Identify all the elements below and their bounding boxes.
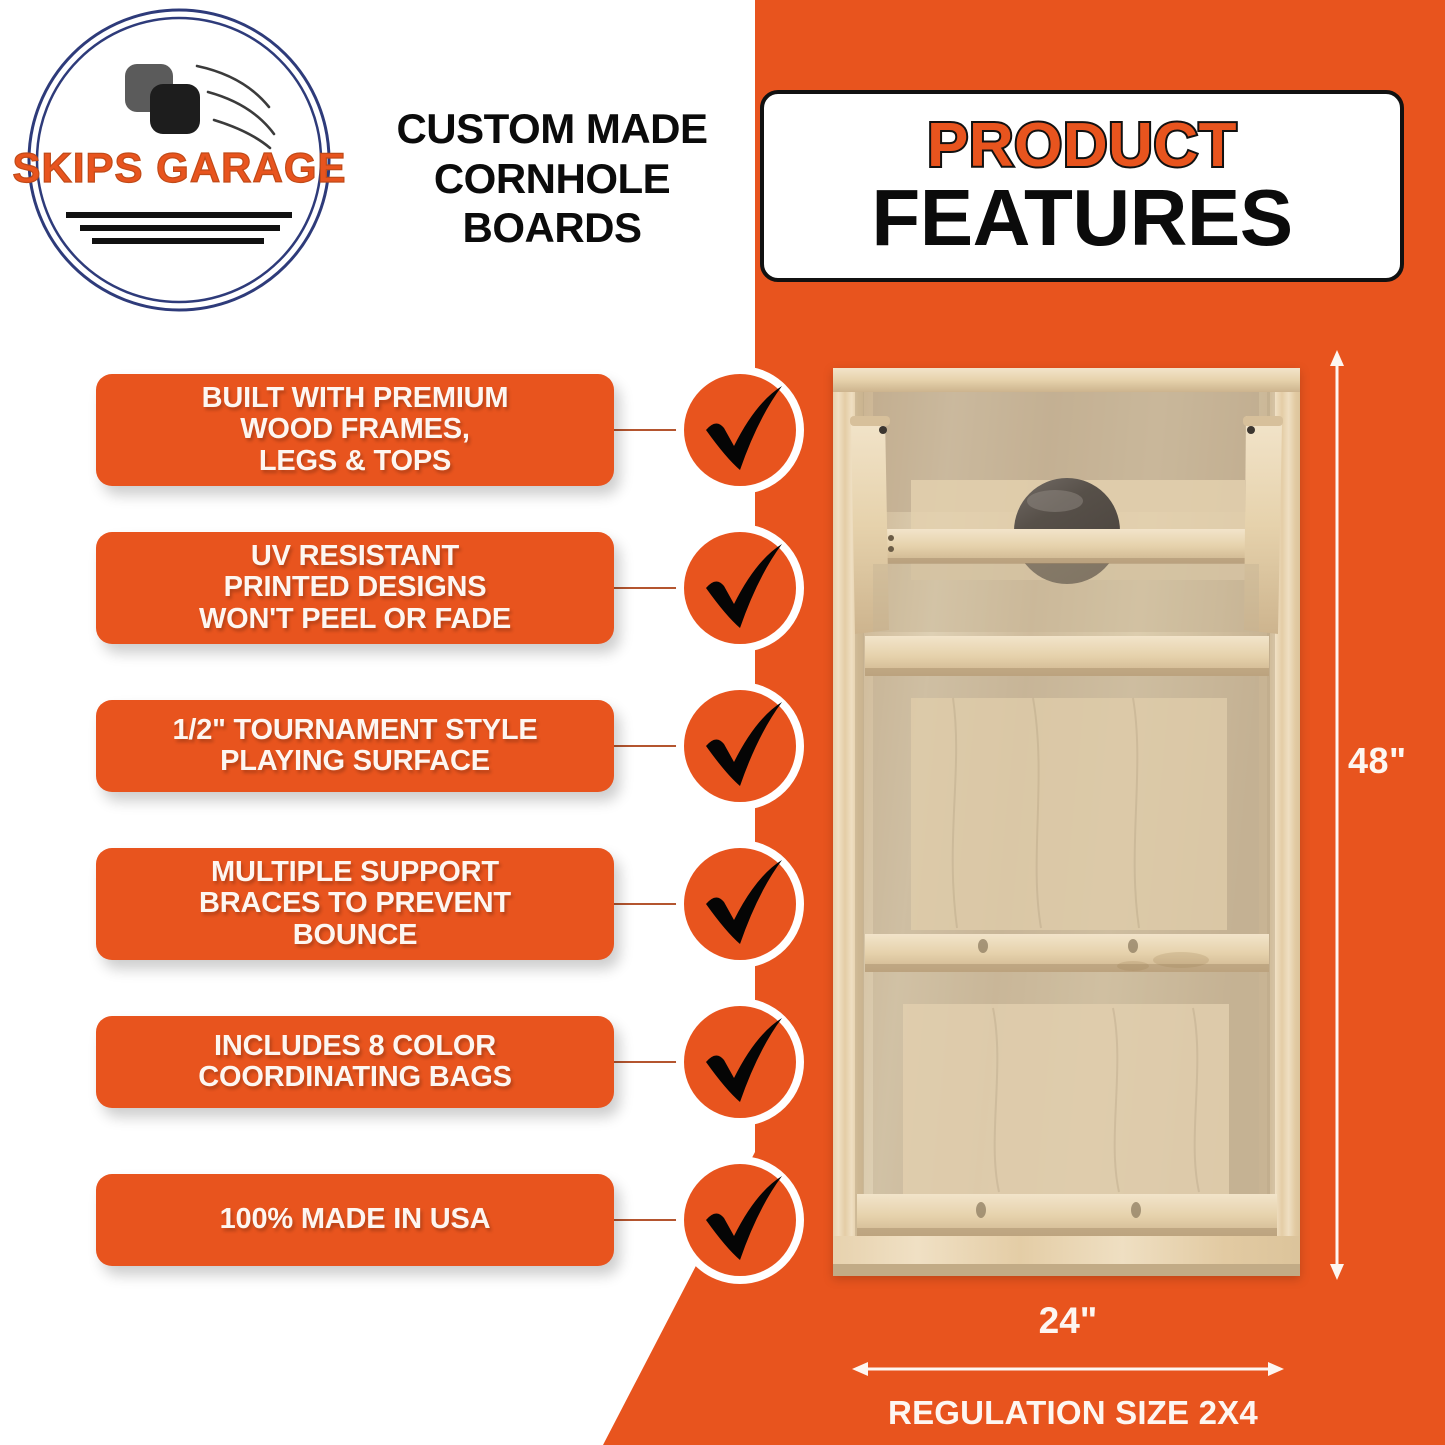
infographic-canvas: SKIPS GARAGE CUSTOM MADE CORNHOLE BOARDS… — [0, 0, 1445, 1445]
height-dimension-label: 48" — [1348, 740, 1407, 782]
check-icon — [676, 682, 804, 810]
feature-item-2[interactable]: UV RESISTANT PRINTED DESIGNS WON'T PEEL … — [0, 518, 830, 658]
banner-line-features: FEATURES — [871, 179, 1292, 257]
logo-wordmark: SKIPS GARAGE — [12, 144, 347, 192]
feature-item-3[interactable]: 1/2" TOURNAMENT STYLE PLAYING SURFACE — [0, 676, 830, 816]
cornhole-board-image — [833, 368, 1300, 1276]
width-dimension-arrow — [852, 1362, 1284, 1376]
feature-label: INCLUDES 8 COLOR COORDINATING BAGS — [198, 1031, 511, 1094]
page-title: CUSTOM MADE CORNHOLE BOARDS — [356, 104, 748, 253]
width-dimension-label: 24" — [852, 1300, 1284, 1342]
product-features-banner: PRODUCT FEATURES — [760, 90, 1404, 282]
check-icon — [676, 366, 804, 494]
board-graphic — [833, 368, 1300, 1276]
feature-item-5[interactable]: INCLUDES 8 COLOR COORDINATING BAGS — [0, 992, 830, 1132]
feature-label: 100% MADE IN USA — [220, 1204, 491, 1235]
feature-pill[interactable]: 100% MADE IN USA — [96, 1174, 614, 1266]
height-dimension-arrow — [1330, 350, 1344, 1280]
feature-label: MULTIPLE SUPPORT BRACES TO PREVENT BOUNC… — [199, 857, 511, 951]
feature-list: BUILT WITH PREMIUM WOOD FRAMES, LEGS & T… — [0, 350, 830, 1350]
feature-pill[interactable]: UV RESISTANT PRINTED DESIGNS WON'T PEEL … — [96, 532, 614, 644]
brand-logo: SKIPS GARAGE — [12, 8, 347, 313]
feature-item-1[interactable]: BUILT WITH PREMIUM WOOD FRAMES, LEGS & T… — [0, 360, 830, 500]
feature-item-6[interactable]: 100% MADE IN USA — [0, 1150, 830, 1290]
feature-pill[interactable]: BUILT WITH PREMIUM WOOD FRAMES, LEGS & T… — [96, 374, 614, 486]
feature-label: 1/2" TOURNAMENT STYLE PLAYING SURFACE — [172, 715, 537, 778]
feature-pill[interactable]: MULTIPLE SUPPORT BRACES TO PREVENT BOUNC… — [96, 848, 614, 960]
check-icon — [676, 840, 804, 968]
check-icon — [676, 1156, 804, 1284]
feature-pill[interactable]: INCLUDES 8 COLOR COORDINATING BAGS — [96, 1016, 614, 1108]
check-icon — [676, 998, 804, 1126]
feature-label: BUILT WITH PREMIUM WOOD FRAMES, LEGS & T… — [202, 383, 509, 477]
feature-label: UV RESISTANT PRINTED DESIGNS WON'T PEEL … — [199, 541, 511, 635]
regulation-size-label: REGULATION SIZE 2X4 — [818, 1394, 1328, 1432]
banner-line-product: PRODUCT — [927, 115, 1237, 177]
feature-pill[interactable]: 1/2" TOURNAMENT STYLE PLAYING SURFACE — [96, 700, 614, 792]
check-icon — [676, 524, 804, 652]
feature-item-4[interactable]: MULTIPLE SUPPORT BRACES TO PREVENT BOUNC… — [0, 834, 830, 974]
